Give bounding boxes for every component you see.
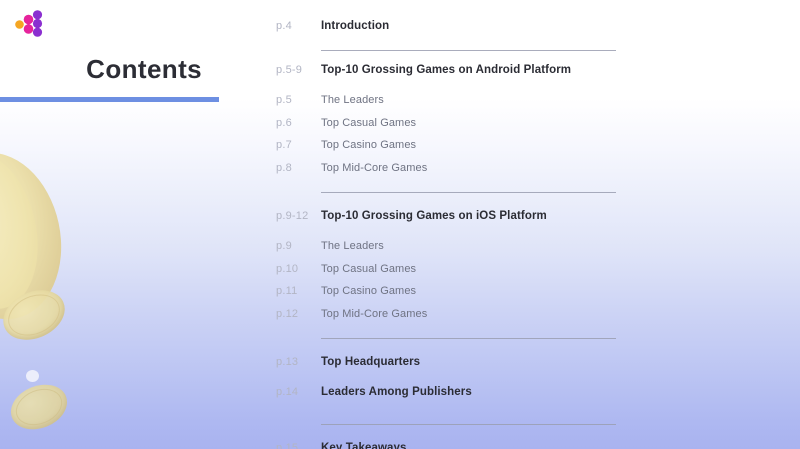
slide-canvas: Contents p.4 Introduction p.5-9 Top-10 G… — [0, 0, 800, 449]
section-divider-4 — [321, 424, 616, 425]
toc-entry-ios-midcore[interactable]: p.12 Top Mid-Core Games — [276, 308, 616, 331]
toc-page-number: p.8 — [276, 162, 321, 174]
toc-entry-ios-leaders[interactable]: p.9 The Leaders — [276, 240, 616, 263]
spacer — [276, 184, 616, 192]
brand-logo-icon — [12, 8, 46, 42]
toc-label: Top Mid-Core Games — [321, 162, 616, 174]
toc-label: Top Casual Games — [321, 117, 616, 129]
toc-entry-ios-casual[interactable]: p.10 Top Casual Games — [276, 263, 616, 286]
spacer — [276, 425, 616, 442]
toc-entry-android-casual[interactable]: p.6 Top Casual Games — [276, 117, 616, 140]
toc-entry-key-takeaways[interactable]: p.15 Key Takeaways — [276, 442, 616, 449]
toc-entry-top-headquarters[interactable]: p.13 Top Headquarters — [276, 356, 616, 386]
page-title: Contents — [0, 54, 220, 84]
toc-page-number: p.14 — [276, 386, 321, 398]
toc-label: Top Casino Games — [321, 285, 616, 297]
toc-label: Top Casino Games — [321, 139, 616, 151]
section-divider-2 — [321, 192, 616, 193]
spacer — [276, 416, 616, 424]
white-dot-shape — [26, 370, 39, 382]
toc-entry-ios-casino[interactable]: p.11 Top Casino Games — [276, 285, 616, 308]
toc-label: Introduction — [321, 20, 616, 32]
table-of-contents: p.4 Introduction p.5-9 Top-10 Grossing G… — [276, 20, 616, 449]
spacer — [276, 51, 616, 64]
toc-label: Key Takeaways — [321, 442, 616, 449]
toc-page-number: p.10 — [276, 263, 321, 275]
toc-page-number: p.6 — [276, 117, 321, 129]
toc-label: The Leaders — [321, 240, 616, 252]
spacer — [276, 193, 616, 210]
spacer — [276, 330, 616, 338]
toc-page-number: p.5-9 — [276, 64, 321, 76]
toc-page-number: p.5 — [276, 94, 321, 106]
toc-page-number: p.7 — [276, 139, 321, 151]
toc-entry-android-casino[interactable]: p.7 Top Casino Games — [276, 139, 616, 162]
toc-label: Top Mid-Core Games — [321, 308, 616, 320]
spacer — [276, 339, 616, 356]
toc-entry-leaders-among-publishers[interactable]: p.14 Leaders Among Publishers — [276, 386, 616, 416]
toc-label: The Leaders — [321, 94, 616, 106]
toc-label: Top Casual Games — [321, 263, 616, 275]
toc-page-number: p.9-12 — [276, 210, 321, 222]
toc-page-number: p.9 — [276, 240, 321, 252]
toc-label: Top Headquarters — [321, 356, 616, 368]
section-divider-3 — [321, 338, 616, 339]
toc-entry-ios-section[interactable]: p.9-12 Top-10 Grossing Games on iOS Plat… — [276, 210, 616, 240]
toc-page-number: p.13 — [276, 356, 321, 368]
toc-page-number: p.15 — [276, 442, 321, 449]
toc-entry-android-midcore[interactable]: p.8 Top Mid-Core Games — [276, 162, 616, 185]
toc-page-number: p.4 — [276, 20, 321, 32]
toc-label: Leaders Among Publishers — [321, 386, 616, 398]
toc-entry-introduction[interactable]: p.4 Introduction — [276, 20, 616, 50]
toc-entry-android-section[interactable]: p.5-9 Top-10 Grossing Games on Android P… — [276, 64, 616, 94]
title-underline — [0, 97, 219, 102]
toc-label: Top-10 Grossing Games on Android Platfor… — [321, 64, 616, 76]
toc-page-number: p.11 — [276, 285, 321, 297]
section-divider-1 — [321, 50, 616, 51]
title-block: Contents — [0, 54, 220, 84]
toc-entry-android-leaders[interactable]: p.5 The Leaders — [276, 94, 616, 117]
toc-label: Top-10 Grossing Games on iOS Platform — [321, 210, 616, 222]
toc-page-number: p.12 — [276, 308, 321, 320]
